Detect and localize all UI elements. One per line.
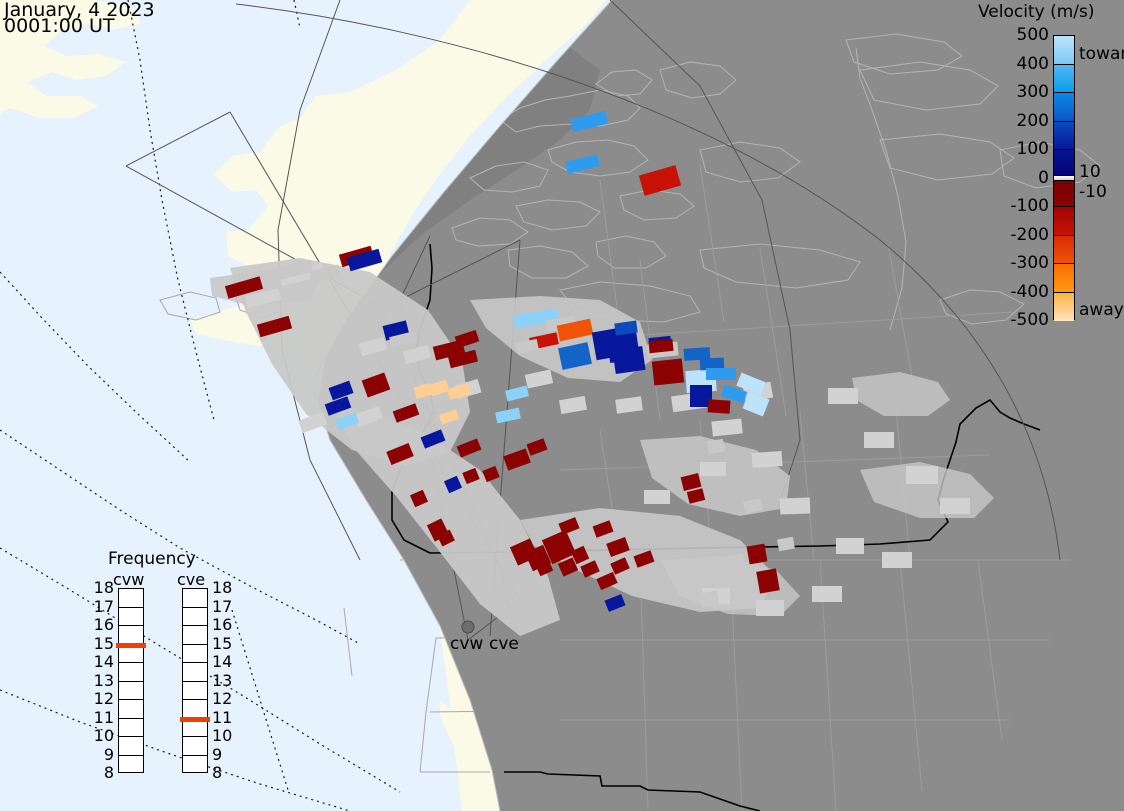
frequency-cell [119,700,143,719]
velocity-cell [708,399,731,414]
frequency-marker [180,717,210,722]
frequency-cell [119,608,143,627]
frequency-label-cvw: 11 [86,708,114,727]
frequency-cell [119,682,143,701]
frequency-label-cve: 14 [212,652,240,671]
frequency-label-cve: 13 [212,671,240,690]
frequency-label-cve: 10 [212,726,240,745]
frequency-label-cvw: 17 [86,597,114,616]
frequency-label-cve: 18 [212,578,240,597]
colorbar-tick: 400 [995,54,1049,74]
velocity-cell [707,439,725,455]
frequency-label-cvw: 18 [86,578,114,597]
frequency-cell [119,756,143,775]
frequency-label-cve: 11 [212,708,240,727]
colorbar-segment [1054,181,1074,207]
frequency-scale-cvw [118,588,144,773]
colorbar-tick: 200 [995,111,1049,131]
station-label-cve: cve [489,634,519,654]
colorbar-toward-label: toward [1079,44,1124,64]
frequency-cell [183,737,207,756]
frequency-cell [119,589,143,608]
frequency-marker [116,643,146,648]
colorbar-tick: -500 [995,310,1049,330]
station-label-cvw: cvw [450,634,483,654]
frequency-label-cvw: 16 [86,615,114,634]
colorbar-segment [1054,264,1074,293]
colorbar-tick: -100 [995,196,1049,216]
frequency-column-header-cve: cve [177,570,205,589]
frequency-label-cvw: 8 [86,763,114,782]
frequency-label-cvw: 14 [86,652,114,671]
frequency-label-cve: 8 [212,763,240,782]
colorbar-tick: -400 [995,282,1049,302]
frequency-column-header-cvw: cvw [113,570,144,589]
colorbar-title: Velocity (m/s) [978,2,1095,22]
frequency-label-cvw: 13 [86,671,114,690]
velocity-cell [612,346,645,374]
colorbar-segment [1054,122,1074,151]
velocity-cell [648,339,673,353]
frequency-cell [183,663,207,682]
colorbar-away-label: away [1079,300,1124,320]
frequency-cell [119,719,143,738]
frequency-cell [183,589,207,608]
colorbar-segment [1054,150,1074,176]
frequency-label-cve: 12 [212,689,240,708]
frequency-cell [119,737,143,756]
frequency-cell [119,663,143,682]
colorbar-tick: 0 [995,168,1049,188]
frequency-label-cve: 16 [212,615,240,634]
frequency-cell [183,608,207,627]
frequency-label-cvw: 12 [86,689,114,708]
colorbar-zero-upper-label: 10 [1079,162,1101,182]
colorbar-segment [1054,65,1074,94]
colorbar-segment [1054,293,1074,322]
colorbar-segment [1054,207,1074,236]
frequency-label-cve: 17 [212,597,240,616]
frequency-legend-title: Frequency [108,549,196,569]
colorbar-tick: 100 [995,139,1049,159]
colorbar-tick: 300 [995,82,1049,102]
frequency-label-cvw: 15 [86,634,114,653]
frequency-label-cvw: 9 [86,745,114,764]
velocity-cell [756,568,780,593]
velocity-cell [747,544,768,565]
map-canvas [0,0,1124,811]
velocity-colorbar [1053,35,1075,320]
velocity-cell [706,368,736,380]
colorbar-segment [1054,236,1074,265]
frequency-cell [183,682,207,701]
frequency-cell [183,645,207,664]
colorbar-zero-lower-label: -10 [1079,182,1107,202]
velocity-cell [652,358,684,385]
colorbar-segment [1054,93,1074,122]
frequency-label-cvw: 10 [86,726,114,745]
frequency-cell [183,626,207,645]
colorbar-tick: -300 [995,253,1049,273]
superdarn-velocity-map: January, 4 2023 0001:00 UT cvw cve Veloc… [0,0,1124,811]
colorbar-tick: -200 [995,225,1049,245]
colorbar-tick: 500 [995,25,1049,45]
frequency-cell [183,756,207,775]
frequency-label-cve: 9 [212,745,240,764]
frequency-label-cve: 15 [212,634,240,653]
radar-station-marker [462,621,474,633]
frequency-scale-cve [182,588,208,773]
time-label: 0001:00 UT [4,17,114,36]
colorbar-segment [1054,36,1074,65]
